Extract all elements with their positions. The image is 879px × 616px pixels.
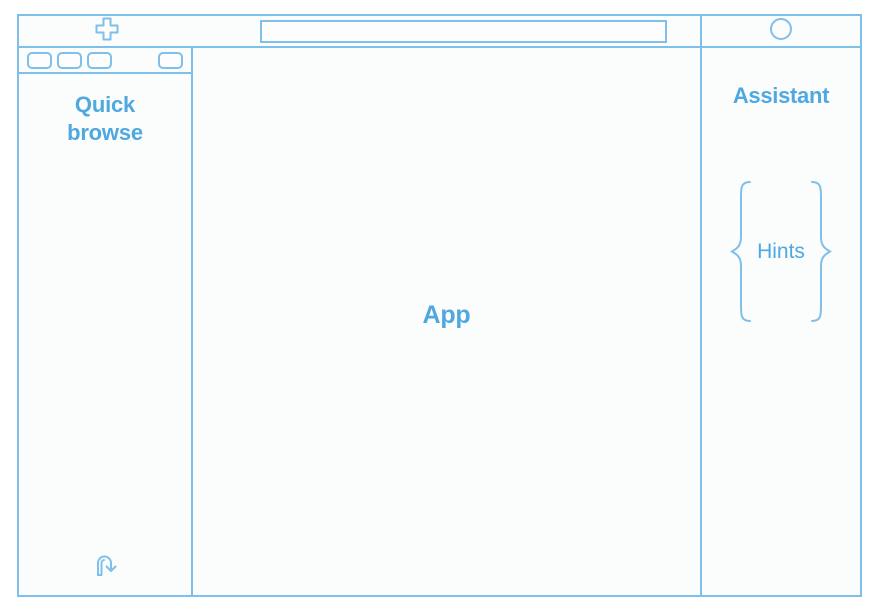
top-bar [19, 16, 860, 48]
search-input[interactable] [260, 20, 667, 43]
app-label: App [423, 301, 471, 330]
toolbar-chip-1[interactable] [27, 52, 52, 69]
u-turn-arrow-icon[interactable] [90, 550, 120, 585]
app-main-area: App [193, 48, 702, 595]
left-curly-brace-icon [729, 179, 755, 324]
sidebar-toolbar [19, 48, 191, 74]
top-bar-left-section [19, 16, 195, 46]
sidebar-panel: Quick browse [19, 48, 193, 595]
toolbar-chip-right[interactable] [158, 52, 183, 69]
plus-icon[interactable] [94, 16, 120, 47]
toolbar-chip-2[interactable] [57, 52, 82, 69]
profile-avatar-circle-icon[interactable] [769, 17, 793, 46]
right-curly-brace-icon [807, 179, 833, 324]
quick-browse-title: Quick browse [19, 91, 191, 147]
quick-browse-title-line-2: browse [29, 119, 181, 147]
assistant-panel: Assistant Hints [702, 48, 860, 595]
sidebar-content-area [19, 147, 191, 543]
assistant-title: Assistant [733, 83, 829, 109]
quick-browse-title-line-1: Quick [29, 91, 181, 119]
toolbar-chip-3[interactable] [87, 52, 112, 69]
hints-block: Hints [702, 179, 860, 324]
wireframe-window: Quick browse App Assistant [17, 14, 862, 597]
hints-label: Hints [755, 240, 807, 264]
window-body: Quick browse App Assistant [19, 48, 860, 595]
top-bar-right-section [700, 16, 860, 46]
sidebar-footer [19, 543, 191, 595]
top-bar-center-section [195, 16, 700, 46]
